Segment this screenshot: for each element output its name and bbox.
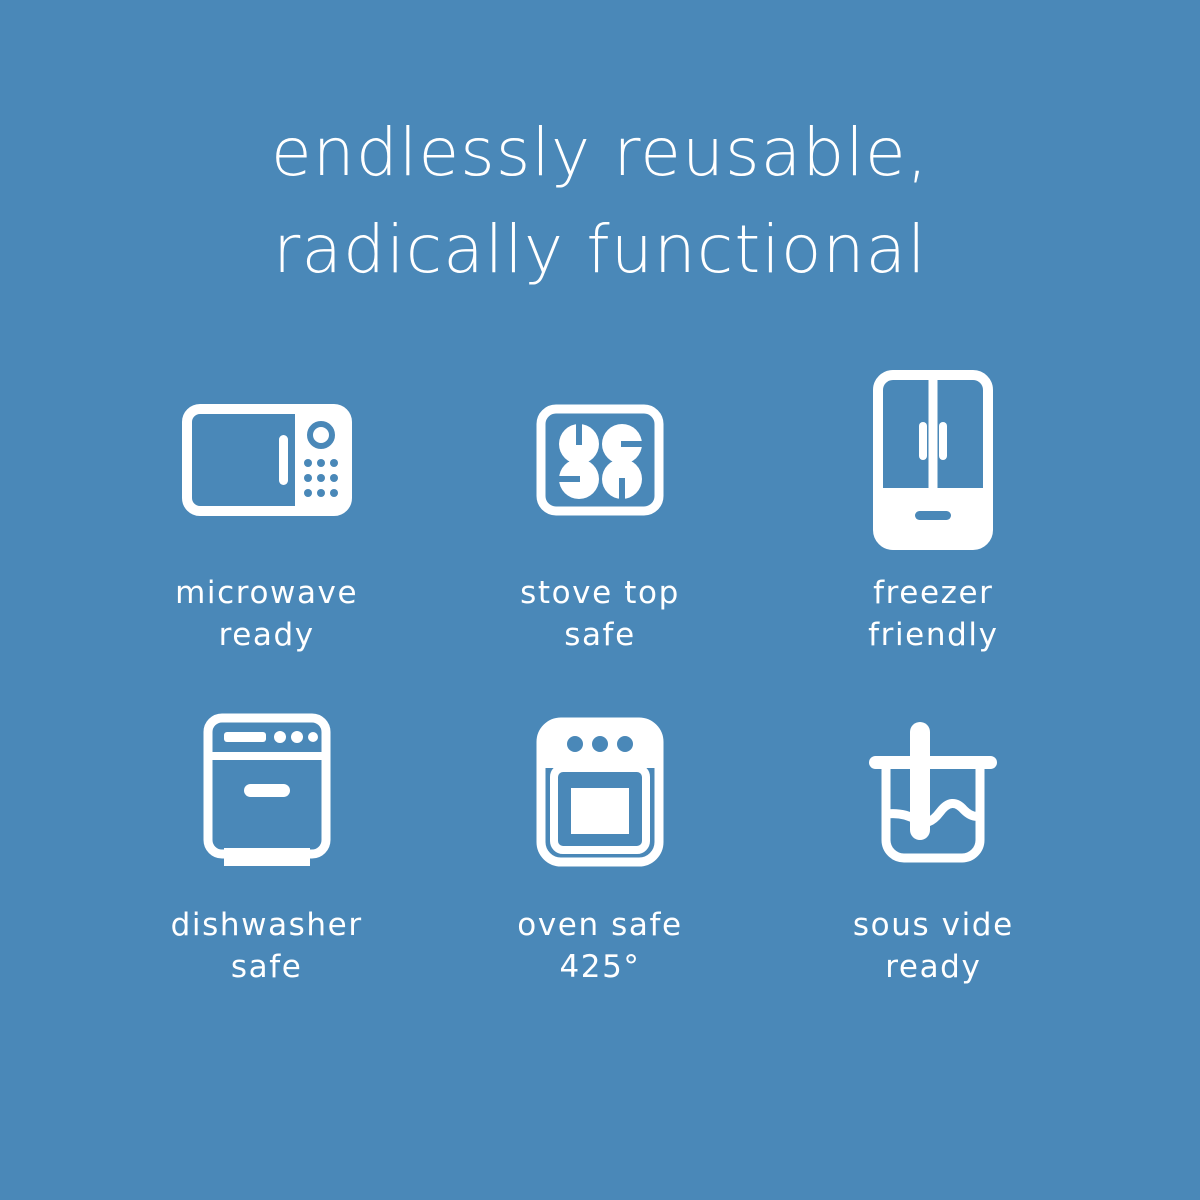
feature-freezer-label: freezer friendly xyxy=(868,572,998,656)
feature-dishwasher: dishwasher safe xyxy=(100,692,433,1024)
sous-vide-icon-wrap xyxy=(860,692,1006,892)
page-title: endlessly reusable, radically functional xyxy=(0,104,1200,298)
oven-icon-wrap xyxy=(535,692,665,892)
feature-sous-vide-label: sous vide ready xyxy=(853,904,1014,988)
feature-microwave-label: microwave ready xyxy=(175,572,358,656)
feature-oven-label: oven safe 425° xyxy=(517,904,682,988)
feature-dishwasher-label: dishwasher safe xyxy=(171,904,363,988)
page-title-line-2: radically functional xyxy=(0,201,1200,298)
freezer-icon xyxy=(873,370,993,550)
microwave-icon-wrap xyxy=(182,360,352,560)
feature-sous-vide: sous vide ready xyxy=(767,692,1100,1024)
stove-top-icon-wrap xyxy=(536,360,664,560)
feature-infographic: endlessly reusable, radically functional xyxy=(0,0,1200,1200)
feature-stove-top: stove top safe xyxy=(433,360,766,692)
oven-icon xyxy=(535,716,665,868)
freezer-icon-wrap xyxy=(873,360,993,560)
microwave-icon xyxy=(182,404,352,516)
feature-stove-top-label: stove top safe xyxy=(520,572,680,656)
feature-freezer: freezer friendly xyxy=(767,360,1100,692)
feature-grid: microwave ready xyxy=(100,360,1100,1024)
feature-oven: oven safe 425° xyxy=(433,692,766,1024)
dishwasher-icon xyxy=(202,712,332,872)
sous-vide-icon xyxy=(860,716,1006,868)
feature-microwave: microwave ready xyxy=(100,360,433,692)
dishwasher-icon-wrap xyxy=(202,692,332,892)
page-title-line-1: endlessly reusable, xyxy=(0,104,1200,201)
stove-top-icon xyxy=(536,404,664,516)
